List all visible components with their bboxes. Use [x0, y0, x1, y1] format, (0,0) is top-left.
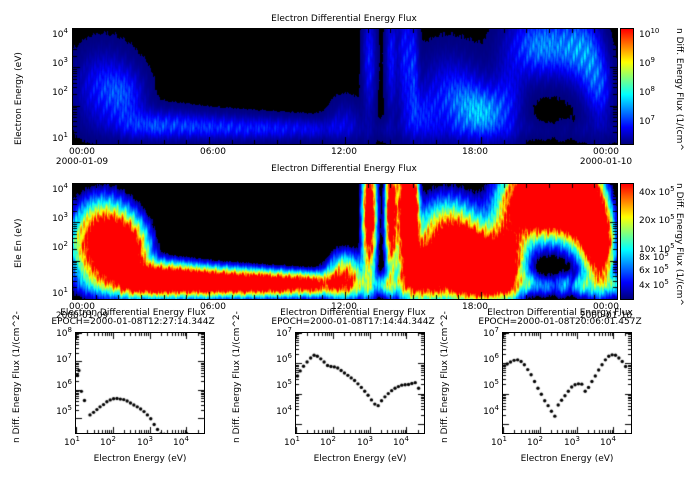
- spectrum-1-ytick-4: 104: [250, 407, 292, 417]
- spectrogram-mid-colorbar-label: n Diff. Energy Flux (1/(cm^: [674, 183, 684, 306]
- spectrum-0-ytick-6: 106: [30, 381, 72, 391]
- spectrogram-top-ytick-1: 101: [28, 134, 68, 144]
- spectrogram-top-colorbar-label: n Diff. Energy Flux (1/(cm^: [674, 28, 684, 151]
- spectrum-0-xtick-1: 101: [64, 438, 80, 448]
- spectrogram-mid-ytick-2: 102: [28, 243, 68, 253]
- spectrogram-top-xtick-3: 18:00: [450, 147, 500, 157]
- spectrum-1-ytick-7: 107: [250, 329, 292, 339]
- spectrum-2-ytick-7: 107: [457, 329, 499, 339]
- spectrum-1-xtick-4: 104: [393, 438, 409, 448]
- spectrogram-top-ytick-3: 103: [28, 59, 68, 69]
- spectrogram-top-colorbar: [620, 28, 634, 145]
- spectrogram-top-cbtick-8: 108: [639, 88, 655, 98]
- spectrogram-top-xtick-0: 00:00: [57, 147, 107, 157]
- spectrogram-top-ytick-4: 104: [28, 30, 68, 40]
- spectrum-0-subtitle: EPOCH=2000-01-08T12:27:14.344Z: [18, 317, 248, 327]
- spectrogram-top-xtick-1: 06:00: [188, 147, 238, 157]
- spectrum-1-ylabel: n Diff. Energy Flux (1/(cm^2-: [232, 311, 242, 443]
- spectrogram-mid-cbtick-6: 6x 105: [639, 266, 669, 276]
- spectrogram-mid-title: Electron Differential Energy Flux: [72, 164, 616, 174]
- spectrogram-top-xtick-4: 00:00: [581, 147, 631, 157]
- spectrum-2-subtitle: EPOCH=2000-01-08T20:06:01.457Z: [445, 317, 675, 327]
- spectrum-1-xtick-1: 101: [284, 438, 300, 448]
- spectrum-1-ytick-6: 106: [250, 355, 292, 365]
- spectrum-2-ytick-4: 104: [457, 407, 499, 417]
- spectrum-0-xlabel: Electron Energy (eV): [60, 454, 220, 464]
- spectrogram-top-cbtick-7: 107: [639, 117, 655, 127]
- spectrum-1-xtick-2: 102: [320, 438, 336, 448]
- spectrogram-mid-image: [72, 183, 618, 300]
- spectrum-0-ytick-8: 108: [30, 329, 72, 339]
- spectrum-0-ytick-7: 107: [30, 355, 72, 365]
- spectrogram-mid-cbtick-20: 20x 105: [639, 216, 675, 226]
- spectrum-1-plot: [295, 332, 425, 434]
- spectrogram-top-title: Electron Differential Energy Flux: [72, 14, 616, 24]
- spectrogram-mid-cbtick-40: 40x 105: [639, 188, 675, 198]
- spectrum-0-ytick-5: 105: [30, 407, 72, 417]
- spectrum-2-xlabel: Electron Energy (eV): [487, 454, 647, 464]
- spectrogram-mid-ytick-3: 103: [28, 214, 68, 224]
- spectrogram-mid-cbtick-8: 8x 105: [639, 253, 669, 263]
- spectrogram-mid-cbtick-4: 4x 105: [639, 281, 669, 291]
- spectrogram-mid-ytick-4: 104: [28, 185, 68, 195]
- spectrum-2-xtick-1: 101: [491, 438, 507, 448]
- spectrogram-top-ylabel: Electron Energy (eV): [14, 52, 24, 145]
- spectrum-2-ytick-6: 106: [457, 355, 499, 365]
- spectrogram-top-cbtick-10: 1010: [639, 30, 659, 40]
- spectrum-2-plot: [502, 332, 632, 434]
- spectrum-0-xtick-3: 103: [137, 438, 153, 448]
- spectrogram-mid-colorbar: [620, 183, 634, 300]
- spectrogram-top-xtick-2: 12:00: [319, 147, 369, 157]
- spectrum-2-xtick-2: 102: [527, 438, 543, 448]
- spectrogram-top-ytick-2: 102: [28, 88, 68, 98]
- spectrum-0-xtick-2: 102: [100, 438, 116, 448]
- spectrum-2-ylabel: n Diff. Energy Flux (1/(cm^2-: [440, 311, 450, 443]
- spectrogram-top-cbtick-9: 109: [639, 59, 655, 69]
- spectrum-1-xlabel: Electron Energy (eV): [280, 454, 440, 464]
- spectrum-0-plot: [75, 332, 205, 434]
- spectrum-2-xtick-3: 103: [564, 438, 580, 448]
- spectrogram-top-image: [72, 28, 618, 145]
- spectrum-2-xtick-4: 104: [600, 438, 616, 448]
- spectrum-2-ytick-5: 105: [457, 381, 499, 391]
- spectrogram-mid-ytick-1: 101: [28, 289, 68, 299]
- spectrum-0-xtick-4: 104: [173, 438, 189, 448]
- spectrum-1-subtitle: EPOCH=2000-01-08T17:14:44.344Z: [238, 317, 468, 327]
- spectrum-1-ytick-5: 105: [250, 381, 292, 391]
- spectrogram-mid-ylabel: Ele En (eV): [14, 218, 24, 268]
- spectrum-0-ylabel: n Diff. Energy Flux (1/(cm^2-: [12, 311, 22, 443]
- spectrum-1-xtick-3: 103: [357, 438, 373, 448]
